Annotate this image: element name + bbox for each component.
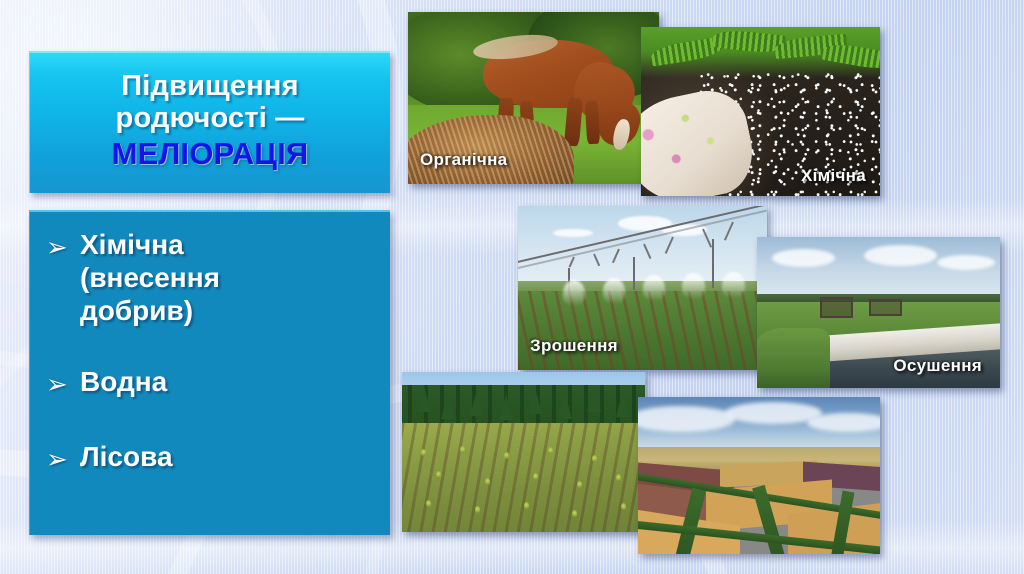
list-item-line: добрив)	[80, 294, 220, 327]
list-item-line: Хімічна	[80, 228, 220, 261]
title-line-2: родючості —	[116, 103, 305, 134]
photo-drainage: Осушення	[757, 237, 1000, 388]
title-box: Підвищення родючості — МЕЛІОРАЦІЯ	[29, 51, 390, 193]
photo-irrigation: Зрошення	[518, 206, 767, 370]
list-item: ➢ Водна	[46, 365, 376, 398]
arrow-bullet-icon: ➢	[46, 228, 80, 260]
photo-caption-chemical: Хімічна	[801, 166, 866, 186]
list-item: ➢ Хімічна (внесення добрив)	[46, 228, 376, 327]
list-item-text: Хімічна (внесення добрив)	[80, 228, 220, 327]
photo-aerial-fields	[638, 397, 880, 554]
arrow-bullet-icon: ➢	[46, 365, 80, 397]
photo-forest-nursery	[402, 372, 645, 532]
list-item: ➢ Лісова	[46, 440, 376, 473]
list-item-line: (внесення	[80, 261, 220, 294]
photo-caption-drainage: Осушення	[893, 356, 982, 376]
arrow-bullet-icon: ➢	[46, 440, 80, 472]
photo-caption-irrigation: Зрошення	[530, 336, 618, 356]
photo-scene	[402, 372, 645, 532]
bullet-list-box: ➢ Хімічна (внесення добрив) ➢ Водна ➢ Лі…	[29, 210, 390, 535]
photo-scene	[638, 397, 880, 554]
list-item-text: Водна	[80, 365, 167, 398]
title-line-1: Підвищення	[121, 71, 299, 102]
list-item-text: Лісова	[80, 440, 173, 473]
title-accent-term: МЕЛІОРАЦІЯ	[112, 137, 309, 170]
presentation-slide: Підвищення родючості — МЕЛІОРАЦІЯ ➢ Хімі…	[0, 0, 1024, 574]
photo-chemical: Хімічна	[641, 27, 880, 196]
photo-organic: Органічна	[408, 12, 659, 184]
photo-caption-organic: Органічна	[420, 150, 507, 170]
